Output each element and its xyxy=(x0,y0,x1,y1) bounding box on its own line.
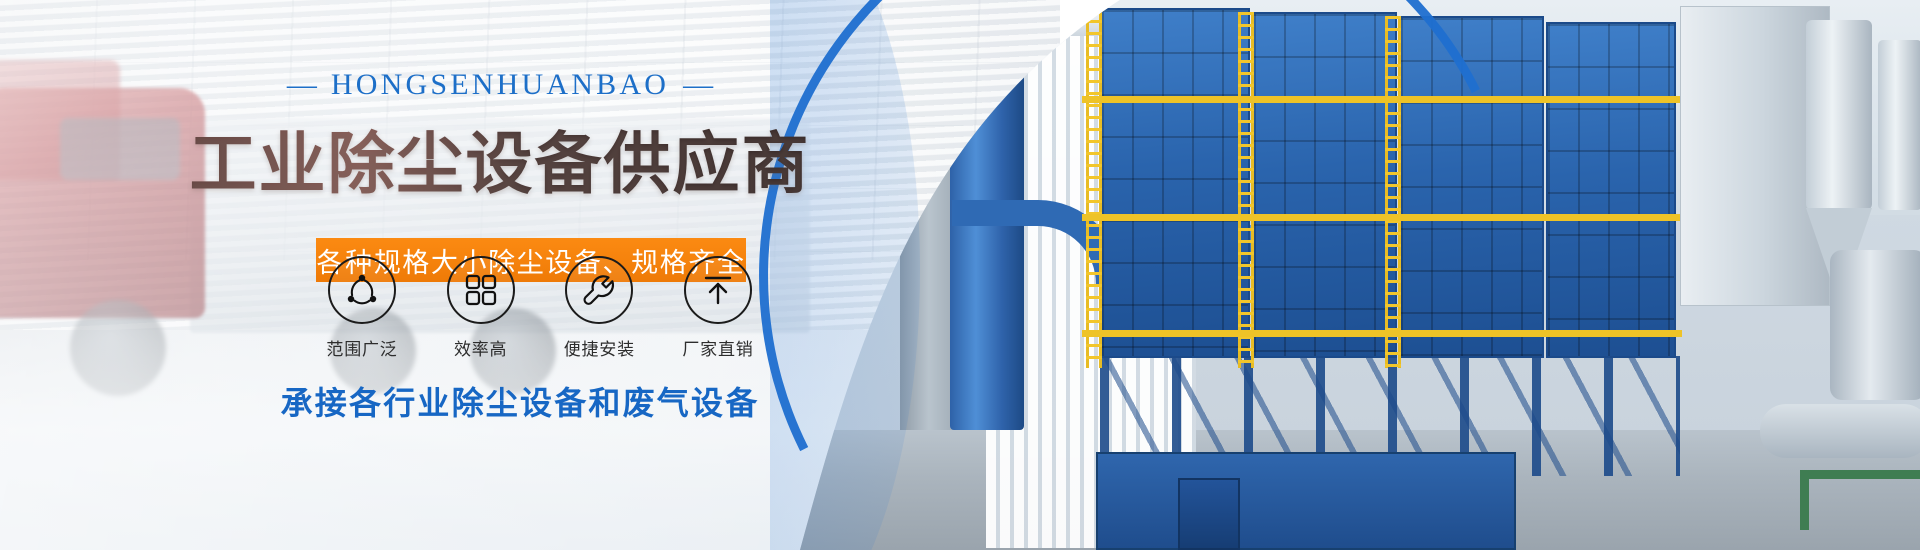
secondary-cyclone xyxy=(1878,40,1920,210)
hero-content: —HONGSENHUANBAO— 工业除尘设备供应商 各种规格大小除尘设备、规格… xyxy=(0,0,1060,550)
feature-item-installation[interactable]: 便捷安装 xyxy=(547,256,651,360)
feature-label: 范围广泛 xyxy=(310,335,414,360)
sub-headline: 承接各行业除尘设备和废气设备 xyxy=(0,378,1040,424)
feature-list: 范围广泛 效率高 xyxy=(310,256,770,360)
eyebrow-dash-right: — xyxy=(669,68,727,101)
cyclone-separator xyxy=(1806,20,1872,210)
hero-banner: —HONGSENHUANBAO— 工业除尘设备供应商 各种规格大小除尘设备、规格… xyxy=(0,0,1920,550)
wrench-icon xyxy=(565,256,633,324)
eyebrow-dash-left: — xyxy=(273,68,331,101)
grid-squares-icon xyxy=(447,256,515,324)
upload-arrow-icon xyxy=(684,256,752,324)
green-railing xyxy=(1800,470,1920,479)
lower-steel-pipe xyxy=(1760,404,1920,458)
feature-item-direct-sales[interactable]: 厂家直销 xyxy=(666,256,770,360)
baghouse-module xyxy=(1546,22,1676,358)
feature-label: 厂家直销 xyxy=(666,335,770,360)
green-railing-post xyxy=(1800,470,1809,530)
page-title: 工业除尘设备供应商 xyxy=(0,110,1000,207)
feature-item-coverage[interactable]: 范围广泛 xyxy=(310,256,414,360)
large-steel-pipe xyxy=(1830,250,1920,400)
feature-item-efficiency[interactable]: 效率高 xyxy=(429,256,533,360)
feature-label: 效率高 xyxy=(429,335,533,360)
eyebrow-text: HONGSENHUANBAO xyxy=(331,68,669,101)
brand-eyebrow: —HONGSENHUANBAO— xyxy=(0,68,1000,102)
feature-label: 便捷安装 xyxy=(547,335,651,360)
network-nodes-icon xyxy=(328,256,396,324)
